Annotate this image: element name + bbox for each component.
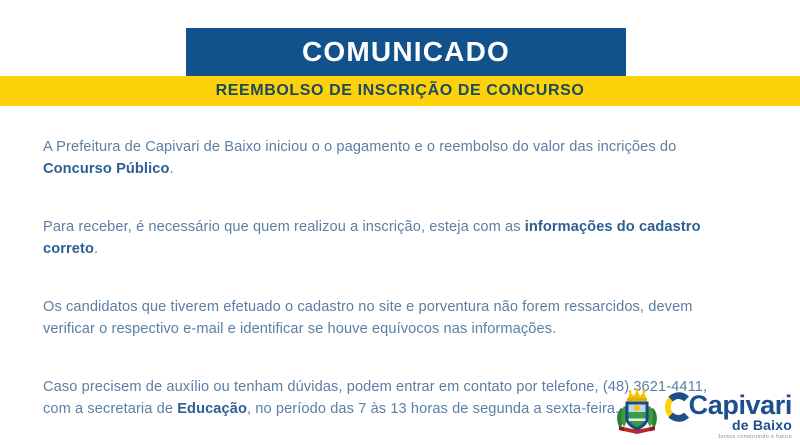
paragraph-3: Os candidatos que tiverem efetuado o cad…: [43, 296, 725, 340]
emphasis-text: Concurso Público: [43, 161, 169, 177]
logo-wordmark: Capivari de Baixo Juntos construindo o f…: [663, 388, 792, 441]
body-text: A Prefeitura de Capivari de Baixo inicio…: [43, 139, 676, 155]
body-text: Os candidatos que tiverem efetuado o cad…: [43, 299, 693, 337]
emphasis-text: Educação: [177, 401, 247, 417]
body-text: Para receber, é necessário que quem real…: [43, 219, 525, 235]
capivari-de-baixo-logo: Capivari de Baixo Juntos construindo o f…: [615, 388, 792, 440]
logo-subname: de Baixo: [732, 418, 792, 433]
page-subtitle: REEMBOLSO DE INSCRIÇÃO DE CONCURSO: [216, 83, 585, 99]
paragraph-1: A Prefeitura de Capivari de Baixo inicio…: [43, 136, 725, 180]
logo-tagline: Juntos construindo o futuro: [718, 433, 792, 441]
body-text: , no período das 7 às 13 horas de segund…: [247, 401, 619, 417]
page-title: COMUNICADO: [302, 38, 510, 66]
body-text: .: [169, 161, 173, 177]
body-text: .: [94, 241, 98, 257]
coat-of-arms-icon: [615, 388, 659, 434]
paragraph-2: Para receber, é necessário que quem real…: [43, 216, 725, 260]
header-banner-primary: COMUNICADO: [186, 28, 626, 76]
header-banner-secondary: REEMBOLSO DE INSCRIÇÃO DE CONCURSO: [0, 76, 800, 106]
announcement-body: A Prefeitura de Capivari de Baixo inicio…: [43, 136, 725, 420]
logo-name: Capivari: [689, 393, 792, 418]
